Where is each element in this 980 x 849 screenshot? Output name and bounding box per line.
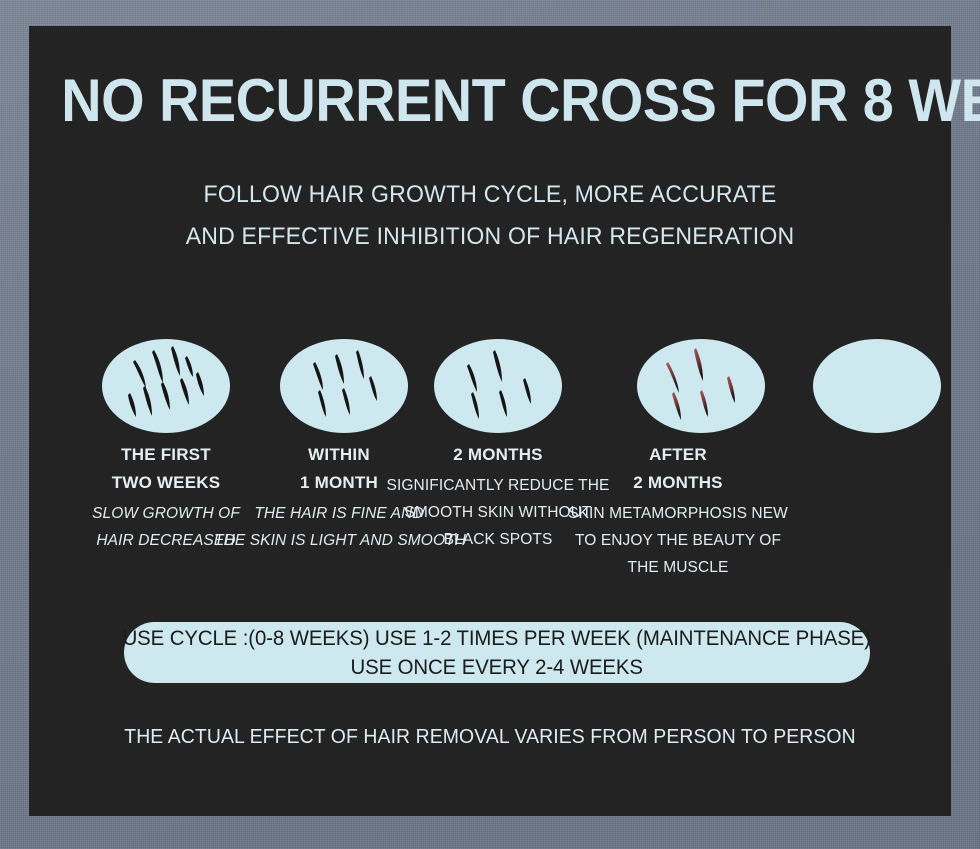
- stage-heading-line-2: 2 MONTHS: [578, 469, 778, 497]
- stage-heading: THE FIRST TWO WEEKS: [66, 441, 266, 497]
- stage-heading: 2 MONTHS: [398, 441, 598, 469]
- poster-frame: NO RECURRENT CROSS FOR 8 WEEKS FOLLOW HA…: [0, 0, 980, 849]
- skin-oval-icon: [433, 338, 563, 434]
- subtitle: FOLLOW HAIR GROWTH CYCLE, MORE ACCURATE …: [47, 174, 932, 258]
- stage-item: [777, 331, 977, 441]
- usage-line-2: USE ONCE EVERY 2-4 WEEKS: [351, 653, 643, 682]
- skin-oval-icon: [279, 338, 409, 434]
- subtitle-line-1: FOLLOW HAIR GROWTH CYCLE, MORE ACCURATE: [47, 174, 932, 216]
- subtitle-line-2: AND EFFECTIVE INHIBITION OF HAIR REGENER…: [47, 216, 932, 258]
- usage-line-1: USE CYCLE :(0-8 WEEKS) USE 1-2 TIMES PER…: [123, 624, 871, 653]
- stage-heading: AFTER 2 MONTHS: [578, 441, 778, 497]
- page-title: NO RECURRENT CROSS FOR 8 WEEKS: [61, 70, 918, 132]
- skin-patch-illustration: [777, 331, 977, 441]
- poster-panel: NO RECURRENT CROSS FOR 8 WEEKS FOLLOW HA…: [29, 26, 951, 816]
- skin-patch-illustration: [398, 331, 598, 441]
- stage-desc-line-3: THE MUSCLE: [553, 554, 803, 581]
- stage-desc-line-2: TO ENJOY THE BEAUTY OF: [553, 527, 803, 554]
- skin-oval-icon: [101, 338, 231, 434]
- stage-item: AFTER 2 MONTHS SKIN METAMORPHOSIS NEW TO…: [601, 331, 801, 581]
- stage-desc-line-1: SKIN METAMORPHOSIS NEW: [553, 500, 803, 527]
- skin-patch-illustration: [601, 331, 801, 441]
- skin-oval-icon: [636, 338, 766, 434]
- skin-oval-icon: [812, 338, 942, 434]
- skin-patch-illustration: [66, 331, 266, 441]
- stage-description: SKIN METAMORPHOSIS NEW TO ENJOY THE BEAU…: [553, 500, 803, 581]
- stage-timeline: THE FIRST TWO WEEKS SLOW GROWTH OF HAIR …: [29, 331, 951, 631]
- stage-heading-line-1: 2 MONTHS: [398, 441, 598, 469]
- stage-caption: AFTER 2 MONTHS SKIN METAMORPHOSIS NEW TO…: [578, 441, 778, 581]
- stage-heading-line-1: AFTER: [578, 441, 778, 469]
- stage-heading-line-1: THE FIRST: [66, 441, 266, 469]
- usage-instructions-banner: USE CYCLE :(0-8 WEEKS) USE 1-2 TIMES PER…: [124, 622, 870, 683]
- disclaimer-text: THE ACTUAL EFFECT OF HAIR REMOVAL VARIES…: [43, 726, 937, 749]
- stage-heading-line-2: TWO WEEKS: [66, 469, 266, 497]
